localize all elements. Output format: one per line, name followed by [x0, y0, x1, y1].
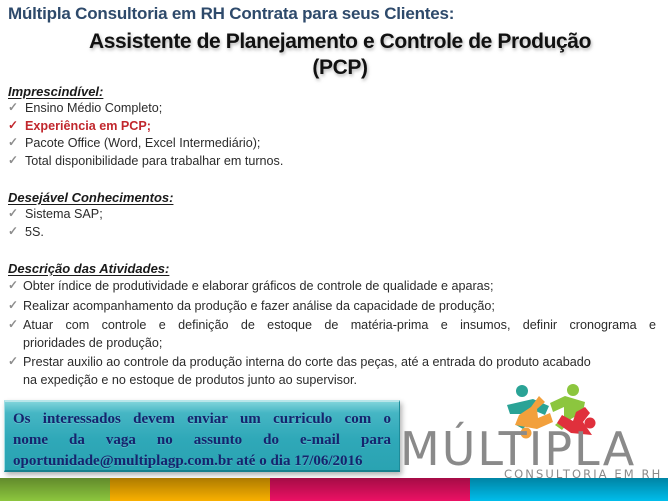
list-item: ✓ Sistema SAP; [8, 206, 656, 223]
list-item: ✓ Obter índice de produtividade e elabor… [8, 278, 656, 296]
strip-block-pink [270, 478, 470, 501]
logo-wordmark: MÚLTIPLA [400, 427, 668, 471]
list-item: ✓ Realizar acompanhamento da produção e … [8, 298, 656, 316]
company-headline: Múltipla Consultoria em RH Contrata para… [8, 4, 648, 24]
list-item-label: Sistema SAP; [25, 207, 103, 221]
application-deadline: até o dia 17/06/2016 [236, 453, 362, 469]
check-icon: ✓ [8, 117, 18, 134]
page-title: Assistente de Planejamento e Controle de… [30, 29, 650, 81]
list-item: ✓ 5S. [8, 224, 656, 241]
list-item-label: 5S. [25, 225, 44, 239]
list-item-label: Realizar acompanhamento da produção e fa… [23, 299, 495, 313]
check-icon: ✓ [8, 297, 18, 315]
check-icon: ✓ [8, 134, 18, 151]
contact-line-3: oportunidade@multiplagp.com.br até o dia… [13, 451, 391, 472]
strip-block-green [0, 478, 110, 501]
strip-block-orange [110, 478, 270, 501]
required-list: ✓ Ensino Médio Completo; ✓ Experiência e… [8, 100, 656, 170]
desirable-list: ✓ Sistema SAP; ✓ 5S. [8, 206, 656, 241]
job-title-abbreviation: (PCP) [30, 55, 650, 81]
list-item-label: Atuar com controle e definição de estoqu… [23, 317, 656, 335]
list-item: ✓ Pacote Office (Word, Excel Intermediár… [8, 135, 656, 152]
company-logo: MÚLTIPLA CONSULTORIA EM RH [398, 383, 668, 479]
list-item-label: Prestar auxilio ao controle da produção … [23, 354, 656, 372]
list-item-label: Total disponibilidade para trabalhar em … [25, 154, 283, 168]
check-icon: ✓ [8, 205, 18, 222]
bottom-color-strip [0, 478, 668, 501]
check-icon: ✓ [8, 152, 18, 169]
strip-block-cyan [470, 478, 668, 501]
list-item: ✓ Atuar com controle e definição de esto… [8, 317, 656, 352]
section-heading-desirable: Desejável Conhecimentos: [8, 190, 173, 205]
list-item: ✓ Ensino Médio Completo; [8, 100, 656, 117]
check-icon: ✓ [8, 99, 18, 116]
list-item-label: Obter índice de produtividade e elaborar… [23, 279, 493, 293]
contact-line-2: nome da vaga no assunto do e-mail para [13, 430, 391, 451]
contact-line-1: Os interessados devem enviar um curricul… [13, 409, 391, 430]
list-item-label: Experiência em PCP; [25, 119, 151, 133]
section-heading-activities: Descrição das Atividades: [8, 261, 169, 276]
list-item: ✓ Experiência em PCP; [8, 118, 656, 135]
activities-list: ✓ Obter índice de produtividade e elabor… [8, 278, 656, 391]
check-icon: ✓ [8, 316, 18, 334]
list-item: ✓ Total disponibilidade para trabalhar e… [8, 153, 656, 170]
contact-callout-box: Os interessados devem enviar um curricul… [4, 400, 400, 472]
check-icon: ✓ [8, 223, 18, 240]
job-title-text: Assistente de Planejamento e Controle de… [89, 30, 591, 53]
section-heading-required: Imprescindível: [8, 84, 103, 99]
contact-email[interactable]: oportunidade@multiplagp.com.br [13, 453, 233, 469]
list-item-label-continued: prioridades de produção; [23, 335, 656, 353]
list-item-label: Pacote Office (Word, Excel Intermediário… [25, 136, 260, 150]
job-posting-poster: Múltipla Consultoria em RH Contrata para… [0, 0, 668, 501]
check-icon: ✓ [8, 353, 18, 371]
check-icon: ✓ [8, 277, 18, 295]
list-item-label: Ensino Médio Completo; [25, 101, 162, 115]
